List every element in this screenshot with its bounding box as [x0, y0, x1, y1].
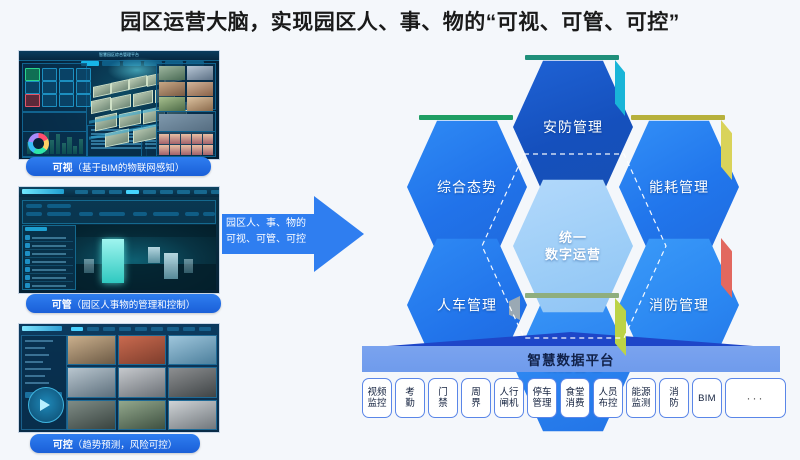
face-capture-panel [156, 131, 216, 157]
capability-line1: 人行 [499, 387, 518, 398]
donut-chart-panel [22, 131, 87, 157]
dashboard-building-model [19, 187, 219, 293]
caption-tag: 可管 [52, 296, 72, 311]
caption-detail: （基于BIM的物联网感知） [73, 160, 185, 174]
hex-edge-green [419, 115, 513, 120]
capability-line1: 视频 [367, 387, 386, 398]
hex-label: 消防管理 [649, 295, 709, 315]
capability-box[interactable]: 门 禁 [428, 378, 458, 418]
building-3d-viewport[interactable] [76, 225, 216, 290]
camera-grid[interactable] [67, 335, 217, 430]
caption-detail: （园区人事物的管理和控制） [72, 297, 196, 311]
capability-line1: 门 [438, 387, 448, 398]
nav-strip-3 [71, 327, 211, 331]
capability-row: 视频 监控 考 勤 门 禁 周 界 人行 闸机 停车 管理 食堂 消费 人员 布 [362, 378, 786, 418]
hex-label: 综合态势 [437, 177, 497, 197]
camera-thumbnails[interactable] [159, 66, 213, 111]
capability-line1: BIM [698, 393, 716, 404]
filter-toolbar[interactable] [22, 200, 216, 224]
caption-tag: 可视 [53, 159, 73, 174]
camera-thumbnail-panel [156, 63, 216, 110]
capability-line1: 考 [405, 387, 415, 398]
dashboard-header-bar-2 [19, 187, 219, 197]
capability-line2: 界 [471, 398, 481, 409]
caption-detail: （趋势预测，风险可控） [73, 437, 178, 451]
kpi-panel [22, 63, 87, 112]
flow-arrow: 园区人、事、物的 可视、可管、可控 [222, 196, 364, 272]
arrow-label-line2: 可视、可管、可控 [226, 232, 326, 248]
capability-line2: 管理 [532, 398, 551, 409]
dashboard-video-wall [19, 324, 219, 432]
dashboard-header-bar-3 [19, 324, 219, 333]
platform-bar: 智慧数据平台 [362, 346, 780, 372]
capability-line1: 停车 [532, 387, 551, 398]
asset-list-panel[interactable] [22, 225, 76, 290]
hex-label: 能耗管理 [649, 177, 709, 197]
capability-box[interactable]: 考 勤 [395, 378, 425, 418]
capability-line1: ··· [747, 393, 765, 404]
hex-center-label: 统一 数字运营 [545, 229, 601, 263]
capability-line2: 勤 [405, 398, 415, 409]
screenshot-building-3d-model[interactable] [18, 186, 220, 294]
caption-tag: 可控 [53, 436, 73, 451]
capability-line1: 人员 [598, 387, 617, 398]
capability-box[interactable]: 停车 管理 [527, 378, 557, 418]
capability-box[interactable]: 周 界 [461, 378, 491, 418]
caption-keshi: 可视 （基于BIM的物联网感知） [26, 157, 211, 176]
arrow-label-line1: 园区人、事、物的 [226, 216, 326, 232]
hex-edge-olive-top [631, 115, 725, 120]
capability-box[interactable]: 食堂 消费 [560, 378, 590, 418]
hex-label: 人车管理 [437, 295, 497, 315]
capability-box[interactable]: 能源 监测 [626, 378, 656, 418]
hex-center-line1: 统一 [559, 230, 587, 245]
capability-line1: 消 [669, 387, 679, 398]
capability-line2: 监测 [631, 398, 650, 409]
camera-tree-sidebar[interactable] [21, 335, 67, 430]
hex-edge-teal [525, 55, 619, 60]
hex-center-line2: 数字运营 [545, 247, 601, 262]
hex-label: 安防管理 [543, 117, 603, 137]
screenshot-video-wall[interactable] [18, 323, 220, 433]
capability-line2: 防 [669, 398, 679, 409]
face-capture-grid [159, 134, 213, 153]
app-logo [22, 326, 62, 331]
capability-box[interactable]: 人行 闸机 [494, 378, 524, 418]
ptz-joystick[interactable] [28, 387, 64, 423]
caption-kekong: 可控 （趋势预测，风险可控） [30, 434, 200, 453]
capability-line2: 禁 [438, 398, 448, 409]
hex-comprehensive-situation[interactable]: 综合态势 [407, 118, 527, 256]
capability-line1: 能源 [631, 387, 650, 398]
hexagon-cluster: 综合态势 人车管理 能耗管理 消防管理 设施管理 安防管理 统一 数字运营 [370, 58, 790, 343]
capability-box[interactable]: 人员 布控 [593, 378, 623, 418]
capability-line2: 消费 [565, 398, 584, 409]
capability-line2: 闸机 [499, 398, 518, 409]
page-title: 园区运营大脑，实现园区人、事、物的“可视、可管、可控” [0, 6, 800, 36]
capability-line2: 布控 [598, 398, 617, 409]
capability-line1: 食堂 [565, 387, 584, 398]
capability-box[interactable]: 视频 监控 [362, 378, 392, 418]
slide-root: 园区运营大脑，实现园区人、事、物的“可视、可管、可控” 智慧园区综合管理平台 [0, 0, 800, 460]
hex-edge-sage [525, 293, 619, 298]
capability-line2: 监控 [367, 398, 386, 409]
arrow-label: 园区人、事、物的 可视、可管、可控 [226, 216, 326, 248]
screenshot-3d-park-overview[interactable]: 智慧园区综合管理平台 [18, 50, 220, 160]
capability-box-bim[interactable]: BIM [692, 378, 722, 418]
donut-chart [28, 133, 49, 154]
nav-strip-2 [75, 190, 220, 194]
capability-line1: 周 [471, 387, 481, 398]
dashboard-3d-park: 智慧园区综合管理平台 [19, 51, 219, 159]
app-logo [22, 189, 64, 194]
caption-keguan: 可管 （园区人事物的管理和控制） [26, 294, 221, 313]
capability-box-more[interactable]: ··· [725, 378, 786, 418]
capability-box[interactable]: 消 防 [659, 378, 689, 418]
